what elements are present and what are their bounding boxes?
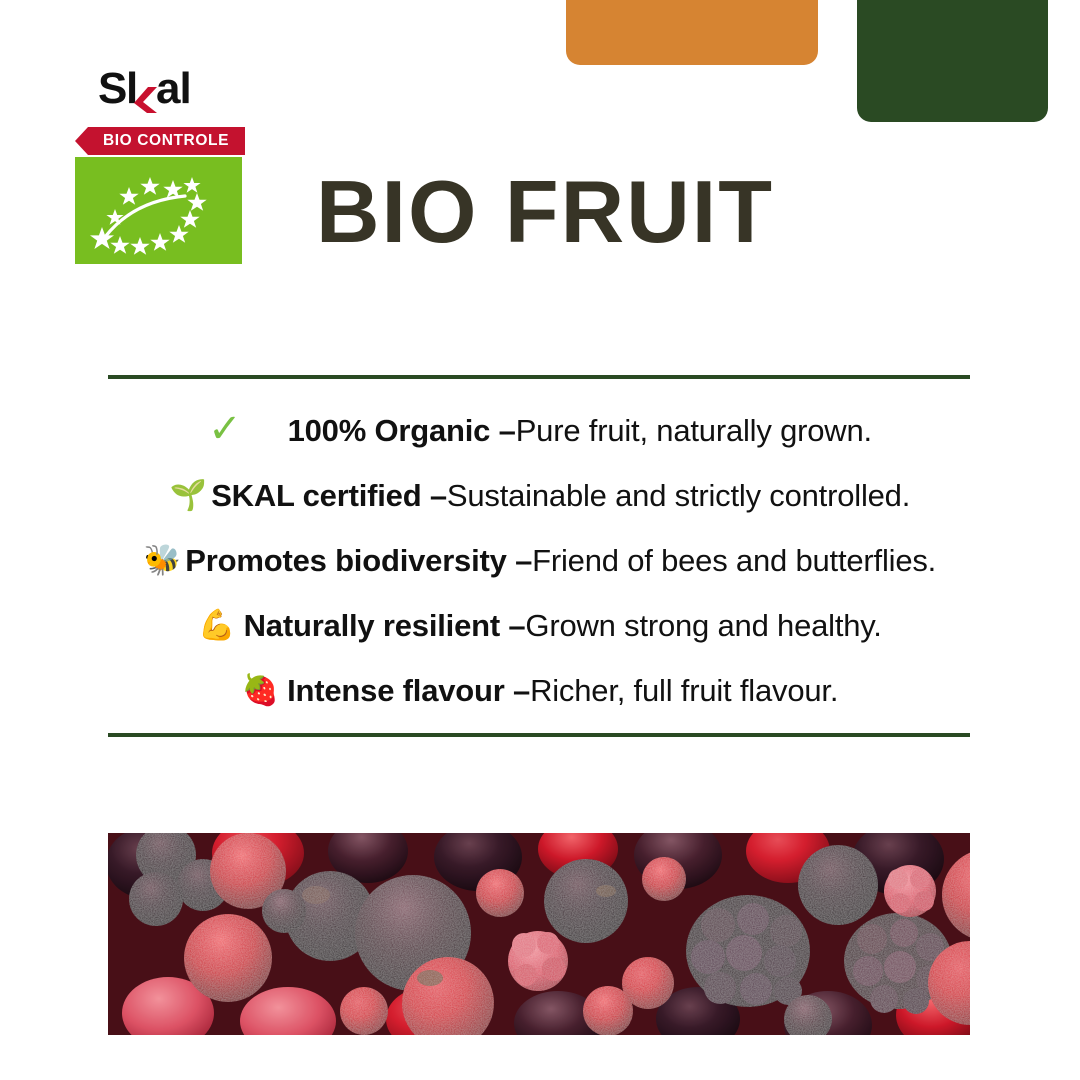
green-accent-block <box>857 0 1048 122</box>
bio-controle-label: BIO CONTROLE <box>75 127 245 155</box>
skal-wordmark: S l al <box>98 66 250 114</box>
divider-bottom <box>108 733 970 737</box>
feature-description: Sustainable and strictly controlled. <box>447 478 910 513</box>
feature-term: Promotes biodiversity – <box>185 543 532 578</box>
list-item: 💪 Naturally resilient –Grown strong and … <box>30 593 1050 658</box>
orange-accent-block <box>566 0 818 65</box>
page-title: BIO FRUIT <box>316 168 774 256</box>
divider-top <box>108 375 970 379</box>
feature-description: Friend of bees and butterflies. <box>532 543 936 578</box>
feature-description: Pure fruit, naturally grown. <box>516 413 872 448</box>
skal-logo-lockup: S l al BIO CONTROLE <box>75 66 250 264</box>
feature-text: 100% Organic –Pure fruit, naturally grow… <box>288 413 872 449</box>
list-item: 🌱 SKAL certified –Sustainable and strict… <box>30 463 1050 528</box>
feature-text: Promotes biodiversity –Friend of bees an… <box>185 543 936 579</box>
honeybee-icon: 🐝 <box>144 546 181 576</box>
feature-text: SKAL certified –Sustainable and strictly… <box>211 478 910 514</box>
feature-list: ✓ 100% Organic –Pure fruit, naturally gr… <box>0 398 1080 723</box>
feature-text: Intense flavour –Richer, full fruit flav… <box>287 673 838 709</box>
feature-term: 100% Organic – <box>288 413 516 448</box>
bio-controle-banner: BIO CONTROLE <box>75 127 245 155</box>
feature-term: Naturally resilient – <box>244 608 526 643</box>
feature-term: SKAL certified – <box>211 478 447 513</box>
frozen-mixed-berries-photo <box>108 833 970 1035</box>
svg-text:l: l <box>126 66 137 113</box>
feature-description: Richer, full fruit flavour. <box>530 673 838 708</box>
strawberry-icon: 🍓 <box>242 676 279 706</box>
flexed-biceps-icon: 💪 <box>198 611 235 641</box>
eu-organic-leaf-icon <box>75 157 242 264</box>
check-mark-icon: ✓ <box>208 409 242 449</box>
svg-text:S: S <box>98 66 126 113</box>
list-item: 🐝 Promotes biodiversity –Friend of bees … <box>30 528 1050 593</box>
poster-canvas: S l al BIO CONTROLE <box>0 0 1080 1080</box>
list-item: 🍓 Intense flavour –Richer, full fruit fl… <box>30 658 1050 723</box>
list-item: ✓ 100% Organic –Pure fruit, naturally gr… <box>30 398 1050 463</box>
seedling-icon: 🌱 <box>170 481 207 511</box>
svg-text:al: al <box>156 66 191 113</box>
feature-term: Intense flavour – <box>287 673 530 708</box>
feature-text: Naturally resilient –Grown strong and he… <box>244 608 882 644</box>
feature-description: Grown strong and healthy. <box>525 608 881 643</box>
